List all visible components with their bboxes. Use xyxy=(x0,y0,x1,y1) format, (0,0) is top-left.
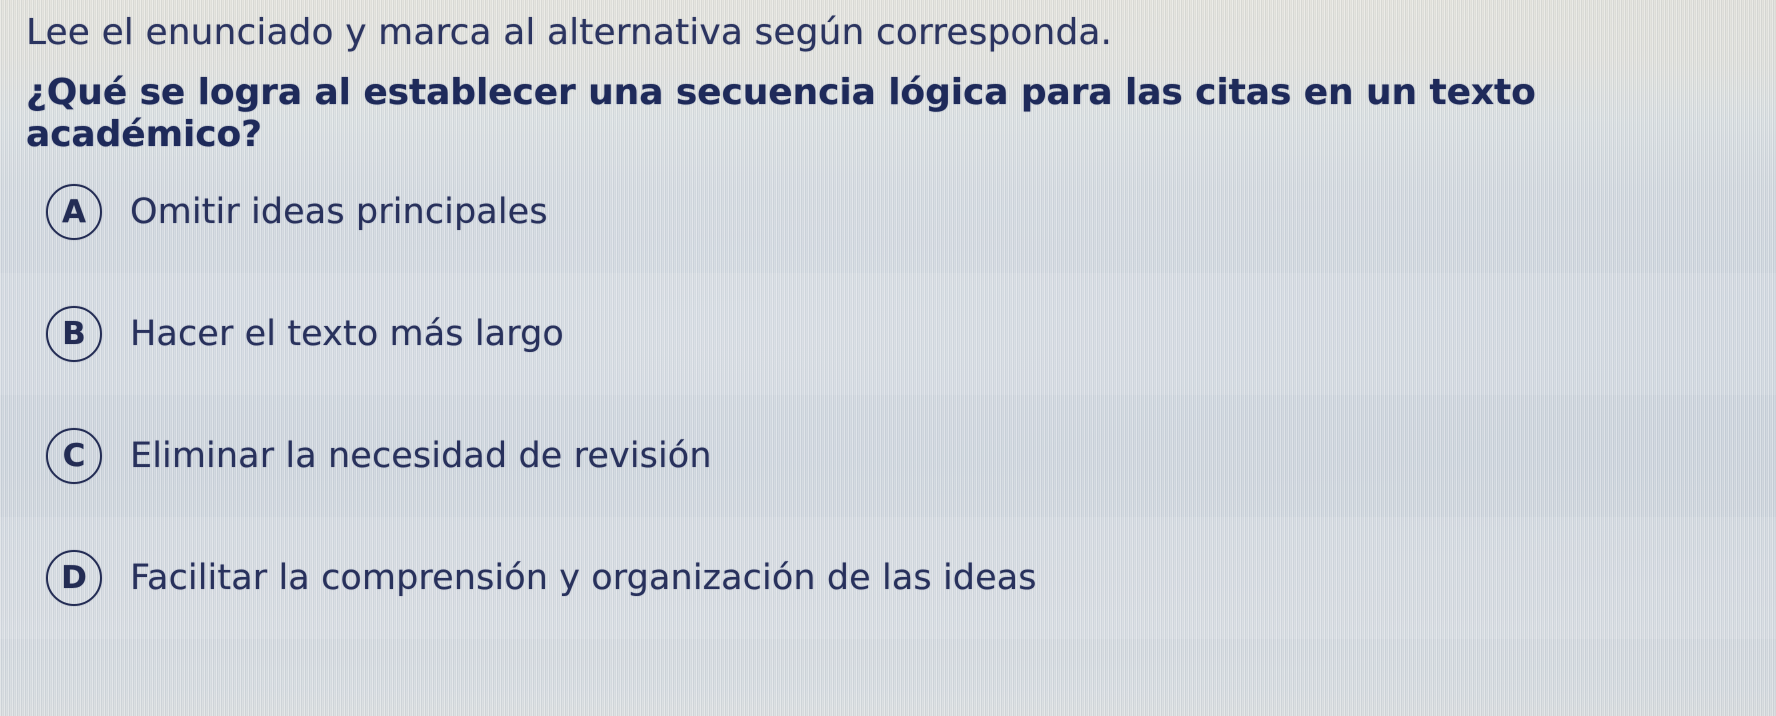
option-label-d: Facilitar la comprensión y organización … xyxy=(130,559,1037,598)
option-marker-a[interactable]: A xyxy=(46,184,102,240)
option-label-b: Hacer el texto más largo xyxy=(130,315,564,354)
option-row-a[interactable]: A Omitir ideas principales xyxy=(0,151,1776,273)
quiz-screen: Lee el enunciado y marca al alternativa … xyxy=(0,0,1776,716)
option-label-a: Omitir ideas principales xyxy=(130,193,548,232)
option-row-d[interactable]: D Facilitar la comprensión y organizació… xyxy=(0,517,1776,639)
option-marker-b[interactable]: B xyxy=(46,306,102,362)
instruction-text: Lee el enunciado y marca al alternativa … xyxy=(26,12,1726,54)
option-row-b[interactable]: B Hacer el texto más largo xyxy=(0,273,1776,395)
option-row-c[interactable]: C Eliminar la necesidad de revisión xyxy=(0,395,1776,517)
option-label-c: Eliminar la necesidad de revisión xyxy=(130,437,712,476)
options-list: A Omitir ideas principales B Hacer el te… xyxy=(0,151,1776,639)
option-marker-d[interactable]: D xyxy=(46,550,102,606)
question-text: ¿Qué se logra al establecer una secuenci… xyxy=(26,72,1756,157)
option-marker-c[interactable]: C xyxy=(46,428,102,484)
